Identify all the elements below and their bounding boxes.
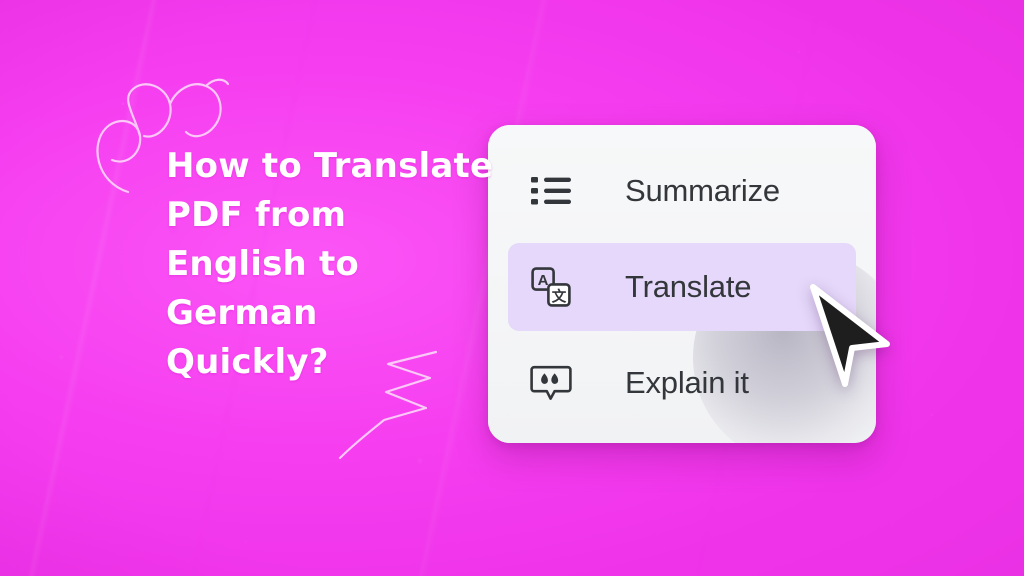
menu-item-translate[interactable]: A 文 Translate xyxy=(508,243,856,331)
headline-line: PDF from xyxy=(166,191,496,240)
menu-item-label: Summarize xyxy=(625,173,780,209)
menu-item-summarize[interactable]: Summarize xyxy=(508,147,856,235)
menu-item-label: Translate xyxy=(625,269,751,305)
headline-line: English to xyxy=(166,240,496,289)
speech-quote-icon xyxy=(529,361,573,405)
poster-canvas: Summarize A 文 Translate xyxy=(0,0,1024,576)
context-menu-card: Summarize A 文 Translate xyxy=(488,125,876,443)
headline-line: How to Translate xyxy=(166,142,496,191)
translate-icon: A 文 xyxy=(529,265,573,309)
page-title: How to Translate PDF from English to Ger… xyxy=(166,142,496,387)
menu-item-explain-it[interactable]: Explain it xyxy=(508,339,856,427)
svg-text:A: A xyxy=(538,272,549,289)
headline-line: Quickly? xyxy=(166,338,496,387)
menu-item-label: Explain it xyxy=(625,365,749,401)
list-bullets-icon xyxy=(529,169,573,213)
headline-line: German xyxy=(166,289,496,338)
svg-text:文: 文 xyxy=(552,288,567,306)
